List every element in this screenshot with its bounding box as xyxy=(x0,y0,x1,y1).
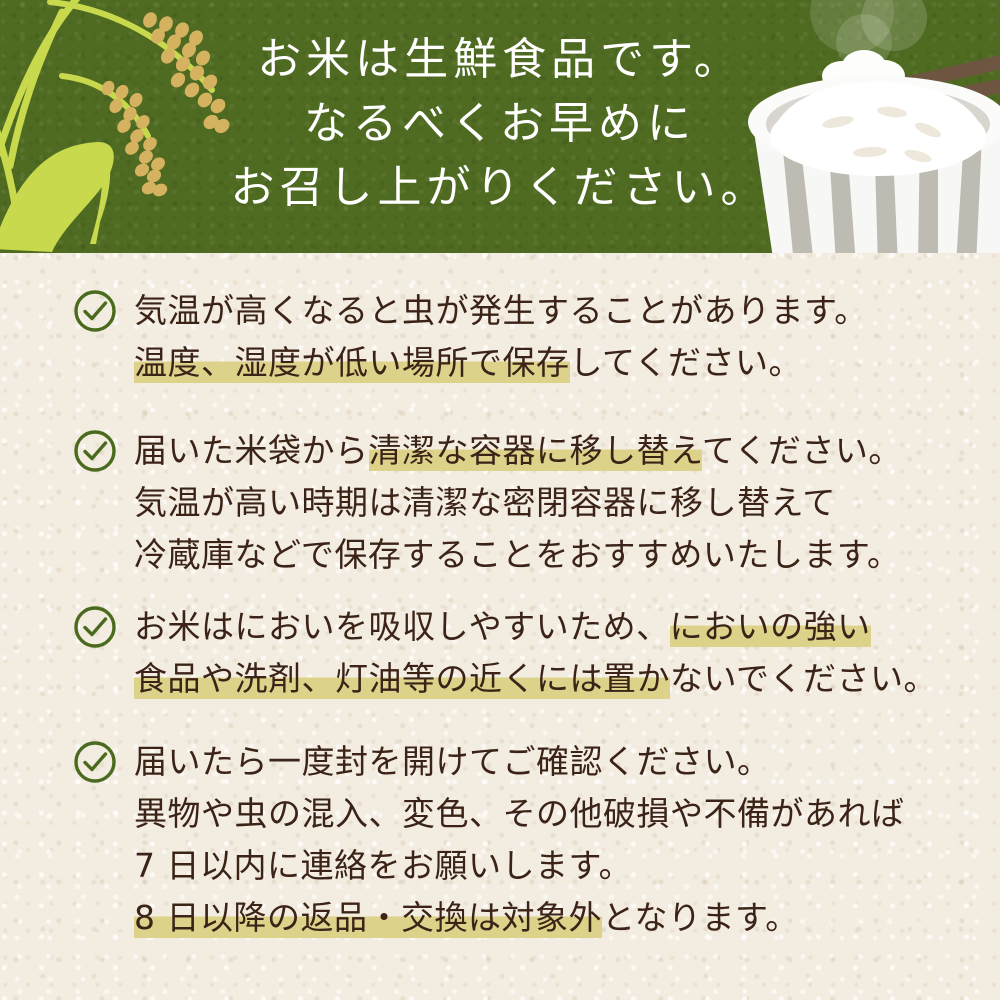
note-span: ないでください。 xyxy=(670,659,937,698)
note-lines: 気温が高くなると虫が発生することがあります。 温度、湿度が低い場所で保存してくだ… xyxy=(134,285,972,389)
note-item: 届いた米袋から清潔な容器に移し替えてください。 気温が高い時期は清潔な密閉容器に… xyxy=(72,425,972,581)
note-line: 7 日以内に連絡をお願いします。 xyxy=(134,840,972,892)
note-span-highlighted: 温度、湿度が低い場所で保存 xyxy=(134,343,570,383)
note-span: 届いた米袋から xyxy=(134,431,369,470)
note-span-highlighted: 食品や洗剤、灯油等の近くには置か xyxy=(134,659,670,699)
note-span-highlighted: 清潔な容器に移し替え xyxy=(369,431,702,471)
note-line: 届いた米袋から清潔な容器に移し替えてください。 xyxy=(134,425,972,477)
note-span: てください。 xyxy=(702,431,902,470)
notes-list: 気温が高くなると虫が発生することがあります。 温度、湿度が低い場所で保存してくだ… xyxy=(0,253,1000,1000)
note-lines: 届いた米袋から清潔な容器に移し替えてください。 気温が高い時期は清潔な密閉容器に… xyxy=(134,425,972,581)
note-span: 届いたら一度封を開けてご確認ください。 xyxy=(134,742,771,781)
note-span: お米はにおいを吸収しやすいため、 xyxy=(134,607,670,646)
note-line: 気温が高い時期は清潔な密閉容器に移し替えて xyxy=(134,477,972,529)
note-span-highlighted: においの強い xyxy=(670,607,871,647)
rice-storage-info-poster: お米は生鮮食品です。 なるべくお早めに お召し上がりください。 xyxy=(0,0,1000,1000)
note-span: してください。 xyxy=(570,343,803,382)
note-line: 温度、湿度が低い場所で保存してください。 xyxy=(134,337,972,389)
check-circle-icon xyxy=(72,604,118,650)
note-line: お米はにおいを吸収しやすいため、においの強い xyxy=(134,601,972,653)
check-circle-icon xyxy=(72,288,118,334)
rice-bowl-icon xyxy=(742,0,1000,253)
note-item: 届いたら一度封を開けてご確認ください。 異物や虫の混入、変色、その他破損や不備が… xyxy=(72,736,972,944)
note-span: 異物や虫の混入、変色、その他破損や不備があれば xyxy=(134,794,905,833)
note-line: 冷蔵庫などで保存することをおすすめいたします。 xyxy=(134,529,972,581)
note-item: 気温が高くなると虫が発生することがあります。 温度、湿度が低い場所で保存してくだ… xyxy=(72,285,972,389)
note-line: 食品や洗剤、灯油等の近くには置かないでください。 xyxy=(134,653,972,705)
check-circle-icon xyxy=(72,428,118,474)
check-circle-icon xyxy=(72,739,118,785)
note-item: お米はにおいを吸収しやすいため、においの強い 食品や洗剤、灯油等の近くには置かな… xyxy=(72,601,972,705)
note-span: となります。 xyxy=(602,898,799,937)
note-line: 異物や虫の混入、変色、その他破損や不備があれば xyxy=(134,788,972,840)
note-line: 気温が高くなると虫が発生することがあります。 xyxy=(134,285,972,337)
note-lines: お米はにおいを吸収しやすいため、においの強い 食品や洗剤、灯油等の近くには置かな… xyxy=(134,601,972,705)
header-banner: お米は生鮮食品です。 なるべくお早めに お召し上がりください。 xyxy=(0,0,1000,253)
note-span-highlighted: 8 日以降の返品・交換は対象外 xyxy=(134,898,602,938)
note-line: 8 日以降の返品・交換は対象外となります。 xyxy=(134,892,972,944)
note-span: 気温が高くなると虫が発生することがあります。 xyxy=(134,291,868,330)
note-span: 7 日以内に連絡をお願いします。 xyxy=(134,846,632,885)
note-line: 届いたら一度封を開けてご確認ください。 xyxy=(134,736,972,788)
note-span: 気温が高い時期は清潔な密閉容器に移し替えて xyxy=(134,483,836,522)
note-lines: 届いたら一度封を開けてご確認ください。 異物や虫の混入、変色、その他破損や不備が… xyxy=(134,736,972,944)
note-span: 冷蔵庫などで保存することをおすすめいたします。 xyxy=(134,535,901,574)
